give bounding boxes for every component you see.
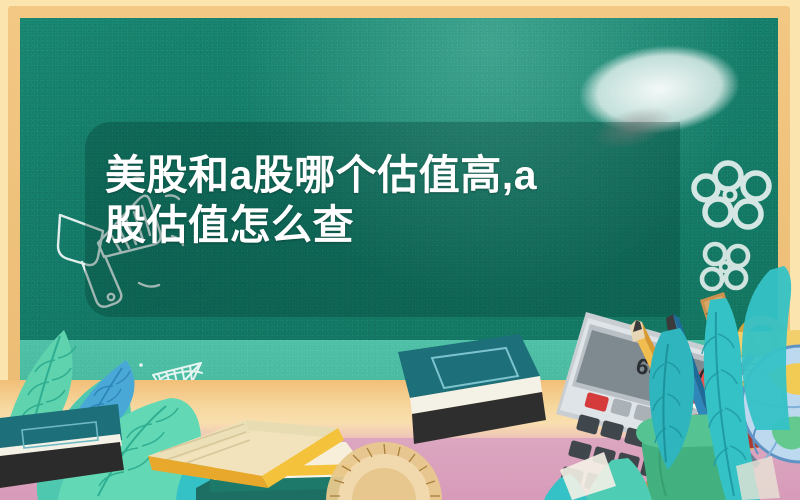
page-title: 美股和a股哪个估值高,a 股估值怎么查 <box>105 150 665 250</box>
headline-line-2: 股估值怎么查 <box>105 202 354 248</box>
headline-line-1: 美股和a股哪个估值高,a <box>105 152 537 198</box>
desk-surface <box>0 380 800 500</box>
cover-image-canvas: 美股和a股哪个估值高,a 股估值怎么查 <box>0 0 800 500</box>
desk-pink-surface <box>0 438 800 500</box>
